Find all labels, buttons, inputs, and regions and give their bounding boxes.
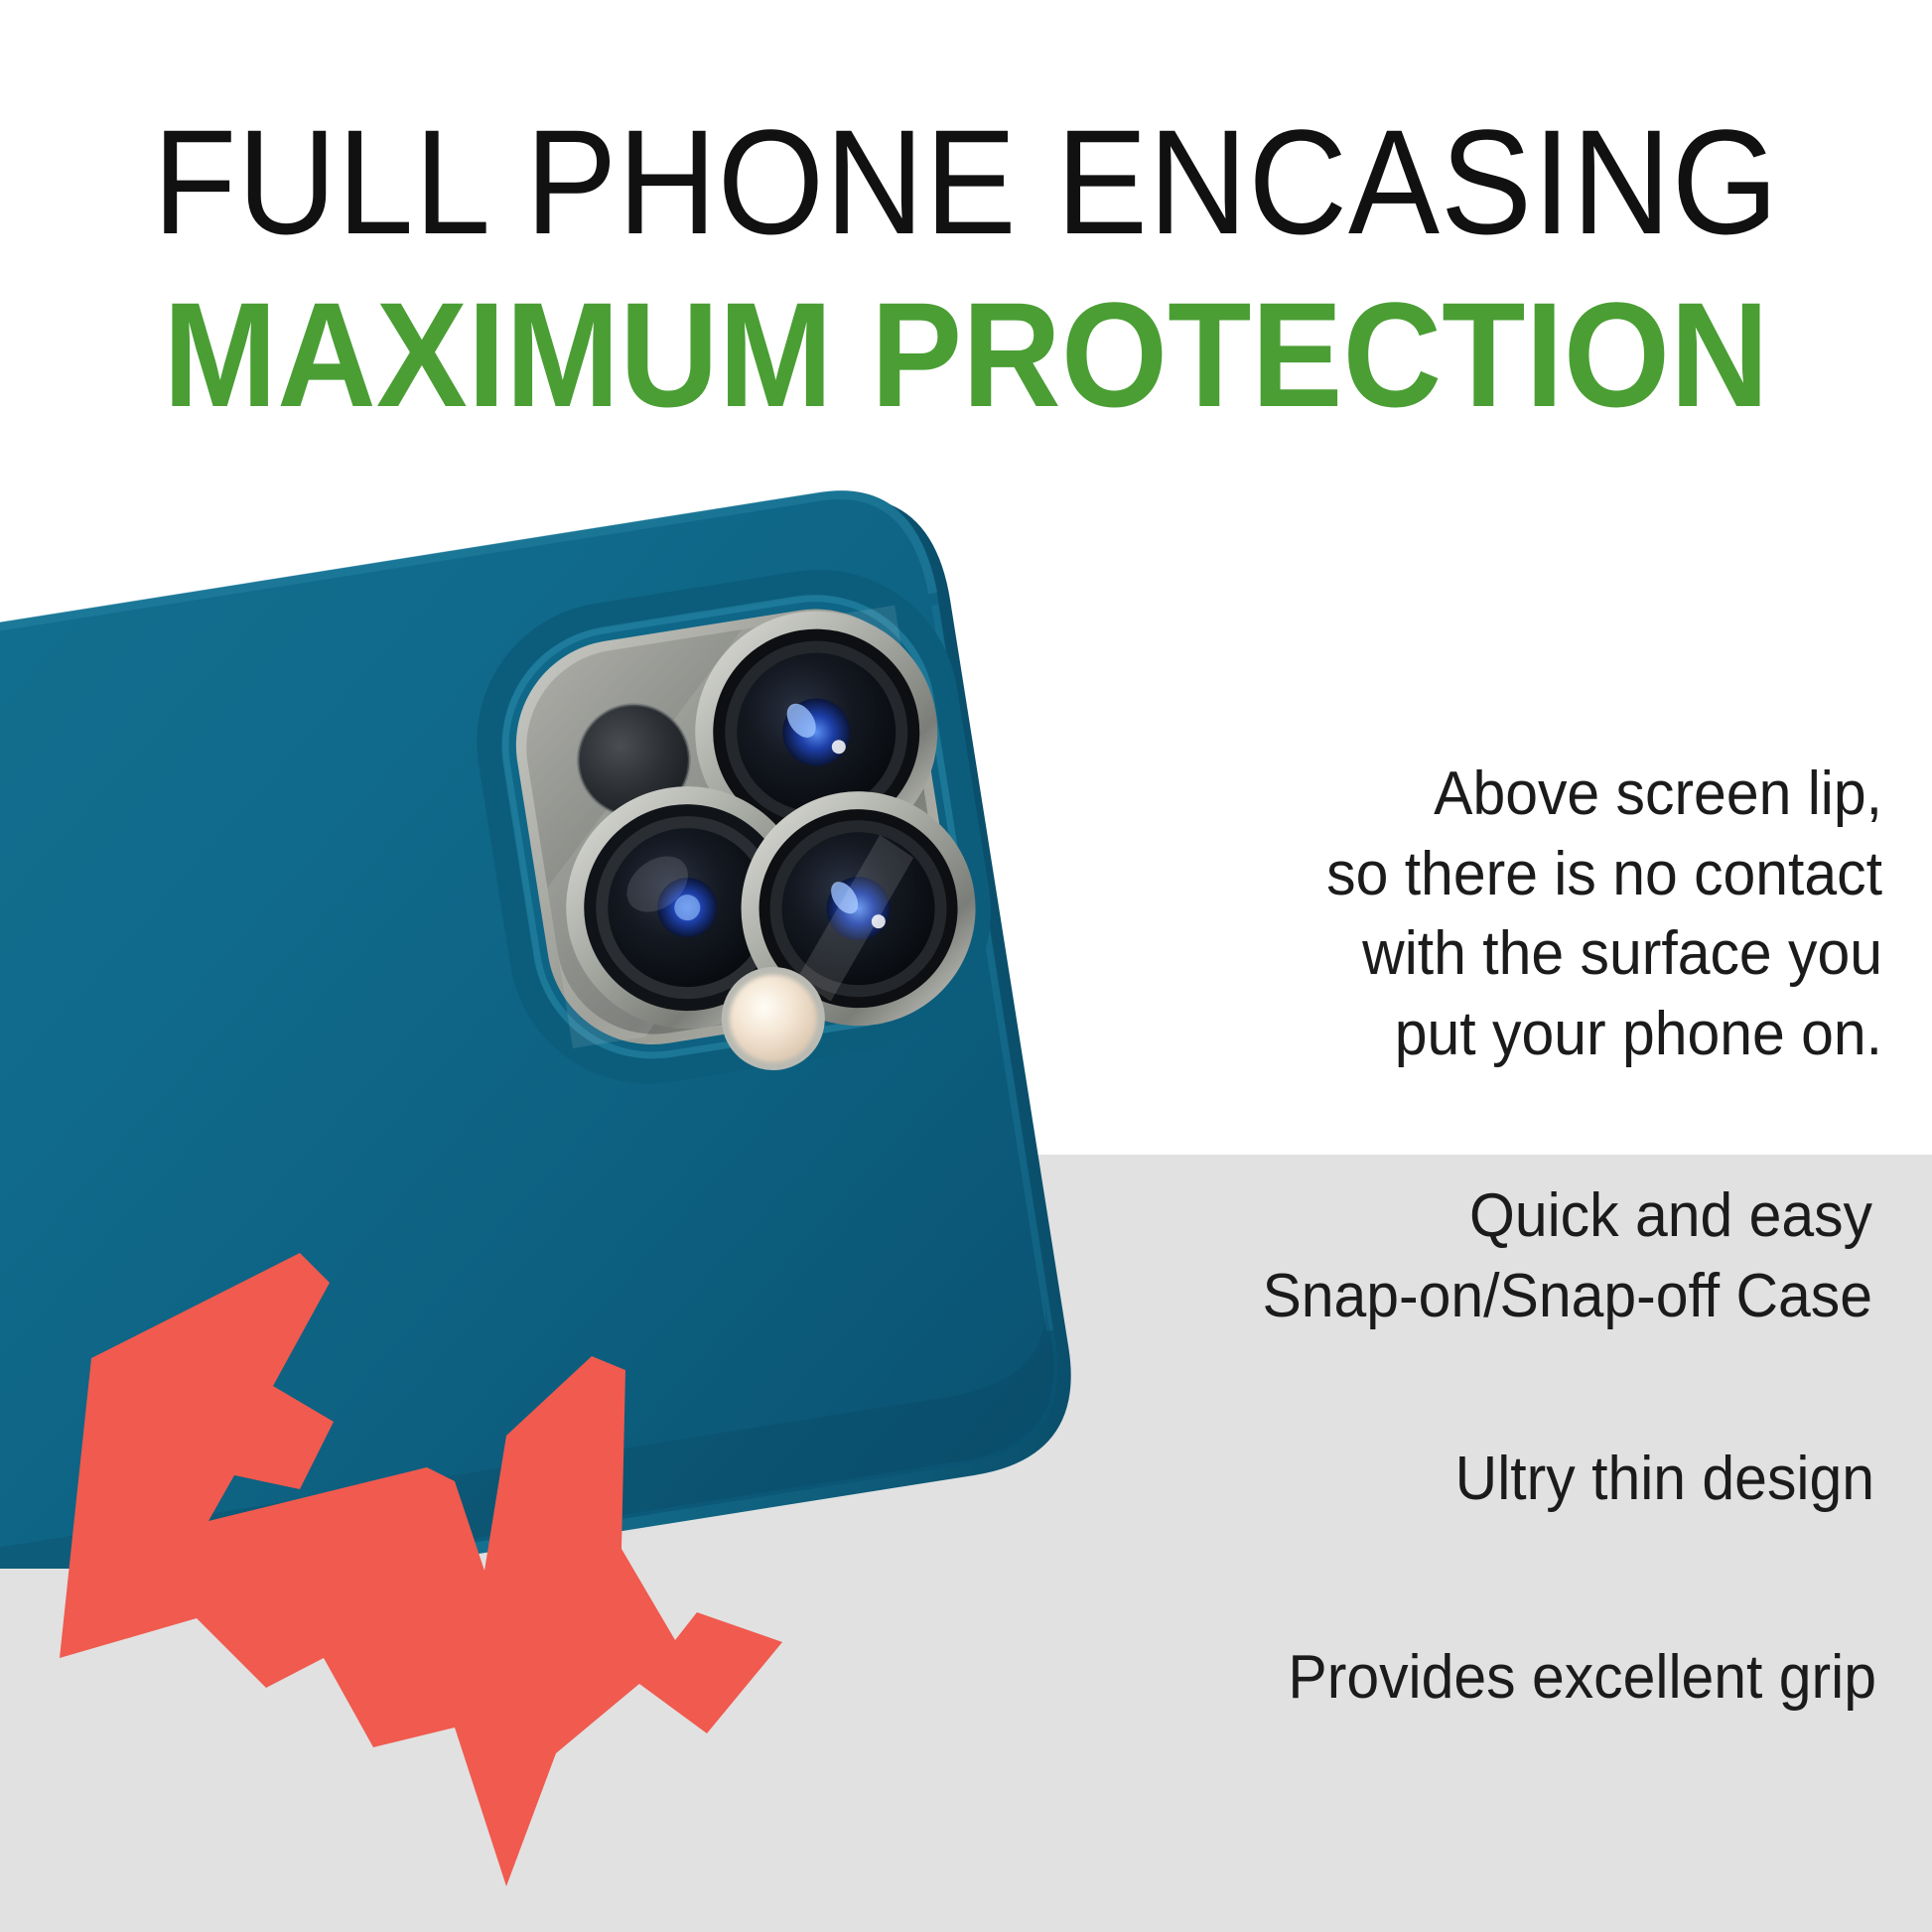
zigzag-svg — [40, 1191, 913, 1932]
poster-canvas: FULL PHONE ENCASING MAXIMUM PROTECTION — [0, 0, 1932, 1932]
camera-module-group — [472, 564, 999, 1106]
feature-ultra-thin: Ultry thin design — [1026, 1440, 1874, 1520]
headline-secondary: MAXIMUM PROTECTION — [77, 280, 1855, 429]
feature-excellent-grip: Provides excellent grip — [1028, 1638, 1876, 1719]
feature-above-screen-lip: Above screen lip, so there is no contact… — [1034, 755, 1882, 1074]
feature-snap-on-off: Quick and easy Snap-on/Snap-off Case — [1024, 1176, 1872, 1336]
headline-primary: FULL PHONE ENCASING — [77, 107, 1855, 256]
lightning-bolt-zigzag-graphic — [40, 1191, 913, 1932]
zigzag-path — [60, 1253, 782, 1886]
headline-block: FULL PHONE ENCASING MAXIMUM PROTECTION — [0, 107, 1932, 429]
